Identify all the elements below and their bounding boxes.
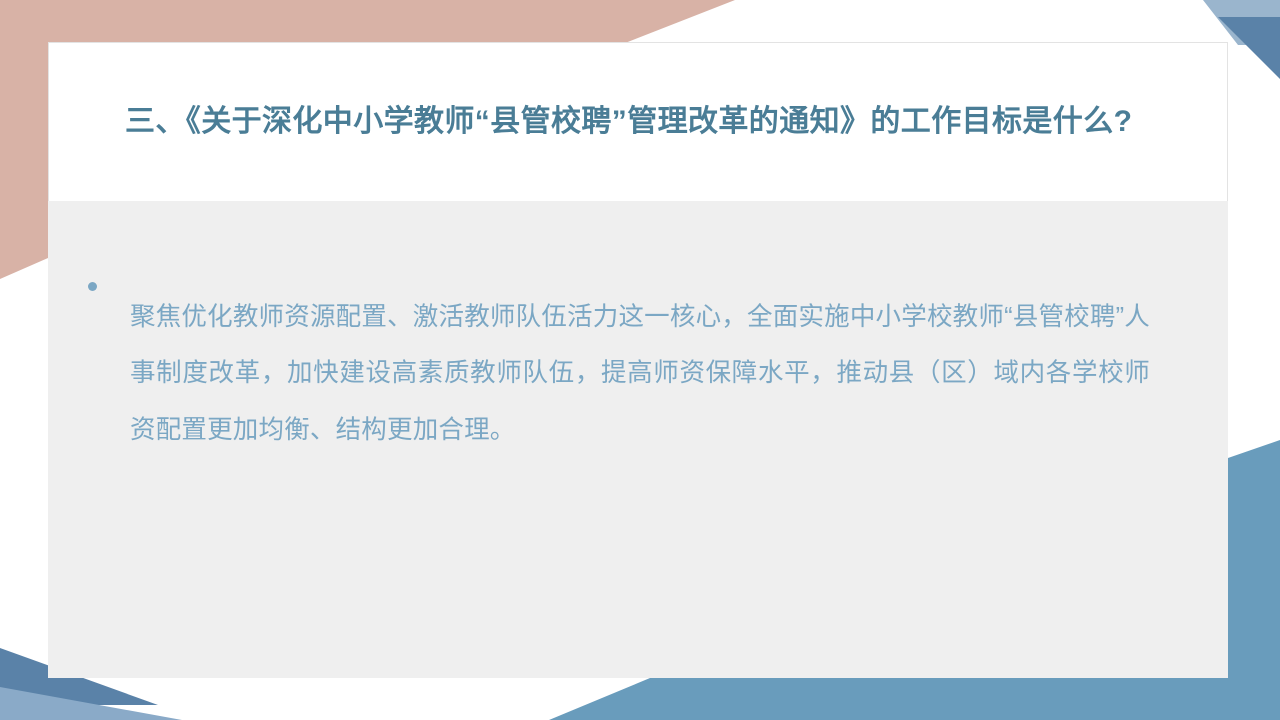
top-right-triangle-light xyxy=(1203,0,1280,45)
list-item: 聚焦优化教师资源配置、激活教师队伍活力这一核心，全面实施中小学校教师“县管校聘”… xyxy=(88,263,1150,485)
content-card: 三、《关于深化中小学教师“县管校聘”管理改革的通知》的工作目标是什么? 聚焦优化… xyxy=(48,42,1228,678)
slide-canvas: 三、《关于深化中小学教师“县管校聘”管理改革的通知》的工作目标是什么? 聚焦优化… xyxy=(0,0,1280,720)
bullet-dot-icon xyxy=(88,282,97,291)
card-body: 聚焦优化教师资源配置、激活教师队伍活力这一核心，全面实施中小学校教师“县管校聘”… xyxy=(48,201,1228,678)
bottom-left-triangle-light xyxy=(0,687,182,720)
card-header: 三、《关于深化中小学教师“县管校聘”管理改革的通知》的工作目标是什么? xyxy=(48,42,1228,201)
right-edge-blue-shape xyxy=(1228,440,1280,678)
bottom-blue-band xyxy=(549,678,1280,720)
bullet-text: 聚焦优化教师资源配置、激活教师队伍活力这一核心，全面实施中小学校教师“县管校聘”… xyxy=(130,289,1150,460)
page-title: 三、《关于深化中小学教师“县管校聘”管理改革的通知》的工作目标是什么? xyxy=(125,101,1132,144)
